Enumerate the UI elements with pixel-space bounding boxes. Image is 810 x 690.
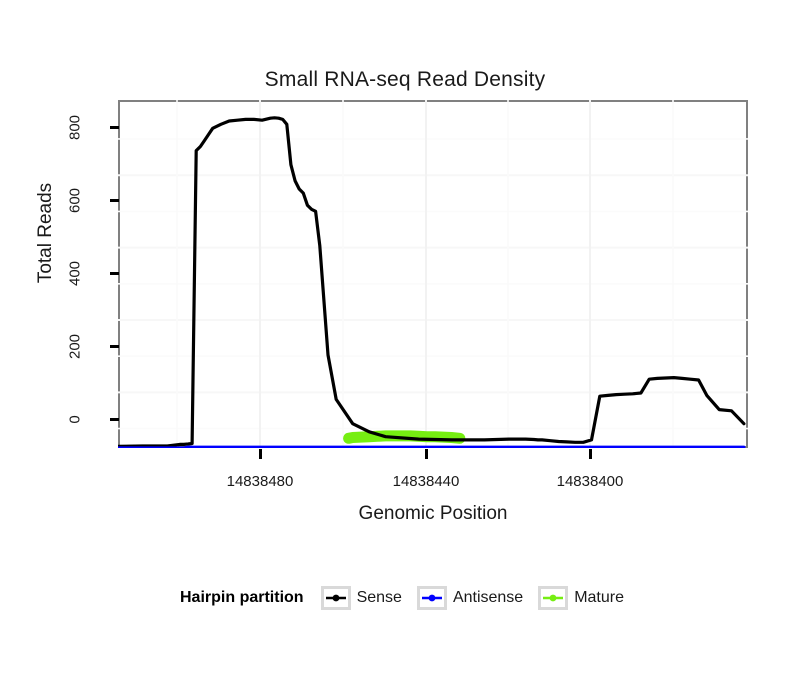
x-axis-title: Genomic Position: [118, 503, 748, 525]
legend-entry-antisense[interactable]: Antisense: [417, 586, 529, 610]
y-tick-mark-0: [110, 418, 119, 421]
x-tick-mark-14838440: [425, 449, 428, 459]
y-tick-mark-400: [110, 272, 119, 275]
x-tick-mark-14838400: [589, 449, 592, 459]
y-tick-label-600: 600: [67, 174, 84, 228]
chart-legend: Hairpin partition Sense Antisense: [0, 586, 810, 610]
y-tick-mark-200: [110, 345, 119, 348]
chart-figure: Small RNA-seq Read Density Total Reads: [0, 0, 810, 690]
legend-label-mature: Mature: [574, 589, 624, 607]
x-tick-mark-14838480: [259, 449, 262, 459]
legend-label-sense: Sense: [357, 589, 402, 607]
series-antisense-line: [118, 447, 744, 448]
x-tick-label-14838400: 14838400: [530, 473, 650, 490]
plot-canvas: [118, 100, 748, 448]
y-axis-title: Total Reads: [35, 83, 57, 383]
y-tick-label-200: 200: [67, 320, 84, 374]
y-tick-label-0: 0: [67, 393, 84, 447]
chart-title: Small RNA-seq Read Density: [0, 68, 810, 92]
gridlines: [118, 100, 748, 448]
legend-key-sense-icon: [321, 586, 351, 610]
series-sense-line: [118, 118, 744, 447]
legend-title: Hairpin partition: [180, 589, 304, 607]
y-tick-mark-600: [110, 199, 119, 202]
y-tick-label-400: 400: [67, 247, 84, 301]
legend-label-antisense: Antisense: [453, 589, 523, 607]
legend-key-antisense-icon: [417, 586, 447, 610]
y-tick-mark-800: [110, 126, 119, 129]
x-tick-label-14838440: 14838440: [366, 473, 486, 490]
y-tick-label-800: 800: [67, 101, 84, 155]
legend-key-mature-icon: [538, 586, 568, 610]
x-tick-label-14838480: 14838480: [200, 473, 320, 490]
legend-entry-sense[interactable]: Sense: [321, 586, 408, 610]
legend-entry-mature[interactable]: Mature: [538, 586, 630, 610]
